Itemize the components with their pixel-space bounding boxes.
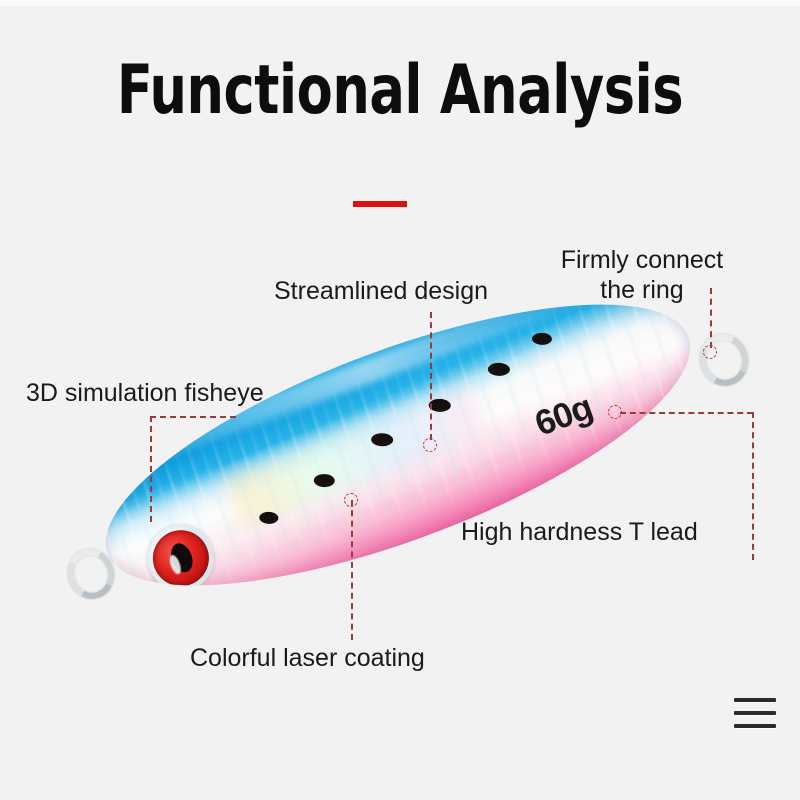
callout-label-streamlined: Streamlined design	[274, 276, 488, 306]
callout-label-hardness: High hardness T lead	[461, 517, 698, 547]
lure-body-group	[74, 247, 721, 642]
marker-circle-streamlined	[423, 438, 437, 452]
lure-spot	[488, 363, 510, 377]
marker-circle-ring	[703, 345, 717, 359]
hamburger-menu-icon[interactable]	[734, 698, 776, 730]
leader-line-fisheye-horizontal	[150, 416, 236, 418]
lure-body	[74, 247, 721, 642]
leader-line-streamlined	[430, 312, 432, 440]
lure-spot	[259, 512, 278, 524]
callout-label-fisheye: 3D simulation fisheye	[26, 378, 264, 408]
lure-spot	[371, 433, 393, 447]
leader-line-fisheye-vertical	[150, 416, 152, 522]
lure-spot	[532, 333, 552, 346]
product-infographic: Functional Analysis	[0, 0, 800, 800]
leader-line-hardness-vertical	[752, 412, 754, 560]
fishing-lure-illustration	[60, 320, 750, 610]
page-title: Functional Analysis	[56, 57, 744, 125]
title-accent-bar	[353, 201, 407, 207]
top-divider	[0, 0, 800, 6]
callout-label-coating: Colorful laser coating	[190, 643, 425, 673]
hamburger-bar	[734, 711, 776, 715]
callout-label-ring: Firmly connect the ring	[543, 245, 741, 305]
hamburger-bar	[734, 698, 776, 702]
hamburger-bar	[734, 724, 776, 728]
leader-line-hardness-horizontal	[620, 412, 753, 414]
leader-line-coating	[351, 500, 353, 640]
